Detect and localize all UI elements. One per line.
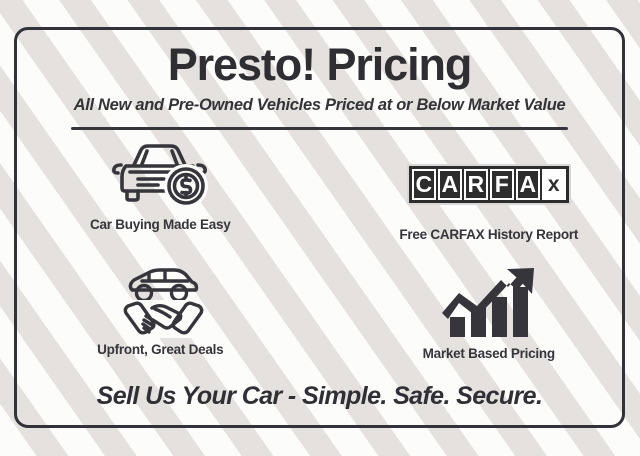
promo-card: Presto! Pricing All New and Pre-Owned Ve…	[14, 27, 625, 428]
feature-label-market-pricing: Market Based Pricing	[423, 346, 555, 361]
carfax-letter-f: F	[490, 169, 514, 200]
carfax-logo-icon: C A R F A x	[407, 164, 571, 205]
carfax-letter-a1: A	[438, 169, 462, 200]
feature-market-pricing: Market Based Pricing	[338, 259, 640, 361]
promo-banner: Presto! Pricing All New and Pre-Owned Ve…	[0, 0, 640, 456]
car-front-with-dollar-coin-icon	[108, 138, 212, 210]
feature-car-buying: Car Buying Made Easy	[9, 136, 312, 232]
headline-block: Presto! Pricing All New and Pre-Owned Ve…	[17, 30, 622, 130]
carfax-letter-c: C	[412, 169, 436, 200]
page-subtitle: All New and Pre-Owned Vehicles Priced at…	[17, 88, 622, 115]
feature-grid: Car Buying Made Easy C A R F A x Free CA…	[17, 130, 622, 382]
tagline: Sell Us Your Car - Simple. Safe. Secure.	[97, 382, 543, 425]
feature-label-carfax: Free CARFAX History Report	[399, 227, 578, 242]
feature-label-upfront-deals: Upfront, Great Deals	[97, 342, 223, 357]
bar-chart-up-arrow-icon	[439, 267, 539, 339]
carfax-letter-r: R	[464, 169, 488, 200]
car-handshake-icon	[108, 263, 212, 335]
carfax-letter-a2: A	[516, 169, 540, 200]
feature-upfront-deals: Upfront, Great Deals	[9, 259, 312, 357]
feature-label-car-buying: Car Buying Made Easy	[90, 217, 231, 232]
feature-carfax: C A R F A x Free CARFAX History Report	[338, 136, 640, 242]
page-title: Presto! Pricing	[17, 30, 622, 88]
carfax-letter-x: x	[542, 169, 566, 200]
carfax-logo-wrapper: C A R F A x	[407, 148, 571, 220]
